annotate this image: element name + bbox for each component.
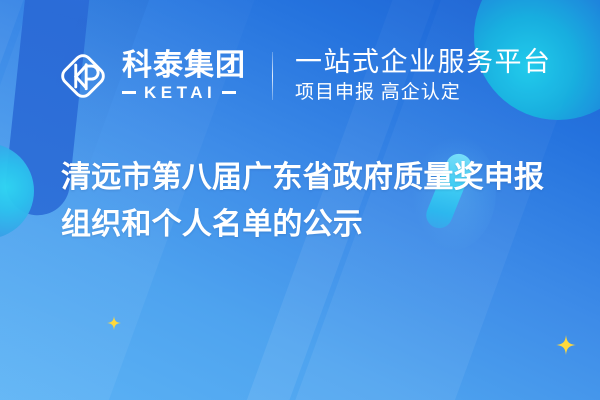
logo-name-en-row: KETAI [122, 84, 246, 101]
slogan-sub: 项目申报 高企认定 [295, 82, 552, 105]
company-logo[interactable]: 科泰集团 KETAI [54, 44, 246, 108]
promo-banner: 科泰集团 KETAI 一站式企业服务平台 项目申报 高企认定 清远市第八届广东省… [0, 0, 600, 400]
cyan-circle-decoration [0, 143, 34, 239]
logo-name-en: KETAI [136, 84, 222, 101]
banner-header: 科泰集团 KETAI 一站式企业服务平台 项目申报 高企认定 [54, 38, 552, 114]
sparkle-icon [107, 316, 121, 335]
logo-dash-left-icon [122, 91, 136, 94]
logo-dash-right-icon [222, 91, 236, 94]
diagonal-light-band [0, 0, 26, 400]
sparkle-icon [556, 335, 576, 360]
slogan-main: 一站式企业服务平台 [295, 47, 552, 77]
logo-name-cn: 科泰集团 [122, 51, 246, 82]
slogan-block: 一站式企业服务平台 项目申报 高企认定 [295, 47, 552, 105]
diamond-kp-monogram-icon [54, 47, 112, 105]
logo-wordmark: 科泰集团 KETAI [122, 51, 246, 102]
vertical-divider [272, 52, 273, 100]
page-title: 清远市第八届广东省政府质量奖申报组织和个人名单的公示 [61, 154, 553, 249]
